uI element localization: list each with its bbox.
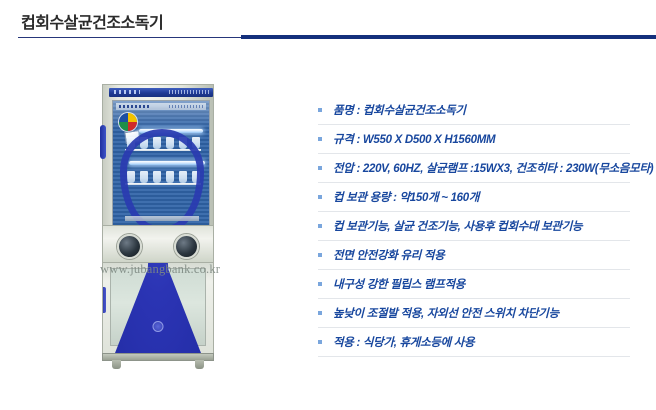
- door-bottom-trim: [125, 216, 199, 221]
- spec-text: 품명 : 컵회수살균건조소독기: [333, 102, 466, 118]
- page-header: 컵회수살균건조소독기: [0, 0, 656, 46]
- square-bullet-icon: [318, 253, 322, 257]
- square-bullet-icon: [318, 137, 322, 141]
- list-item: 품명 : 컵회수살균건조소독기: [318, 96, 630, 125]
- list-item: 전면 안전강화 유리 적용: [318, 241, 630, 270]
- list-item: 컵 보관 용량 : 약150개 ~ 160개: [318, 183, 630, 212]
- square-bullet-icon: [318, 224, 322, 228]
- blue-arch-frame: [120, 129, 204, 228]
- square-bullet-icon: [318, 195, 322, 199]
- upper-cabinet: [102, 84, 214, 236]
- spec-text: 컵 보관 용량 : 약150개 ~ 160개: [333, 189, 479, 205]
- product-image: www.jubangbank.co.kr: [100, 84, 216, 362]
- square-bullet-icon: [318, 108, 322, 112]
- spec-text: 규격 : W550 X D500 X H1560MM: [333, 131, 495, 147]
- list-item: 규격 : W550 X D500 X H1560MM: [318, 125, 630, 154]
- image-watermark: www.jubangbank.co.kr: [100, 262, 330, 277]
- list-item: 컵 보관기능, 살균 건조기능, 사용후 컵회수대 보관기능: [318, 212, 630, 241]
- list-item: 전압 : 220V, 60HZ, 살균램프 :15WX3, 건조히타 : 230…: [318, 154, 630, 183]
- square-bullet-icon: [318, 311, 322, 315]
- color-wheel-sticker-icon: [119, 113, 137, 131]
- list-item: 적용 : 식당가, 휴게소등에 사용: [318, 328, 630, 357]
- brand-badge-icon: [153, 321, 164, 332]
- interior-label-left: [119, 105, 149, 108]
- spec-text: 높낮이 조절발 적용, 자외선 안전 스위치 차단기능: [333, 305, 559, 321]
- header-divider-thick: [241, 35, 656, 39]
- glass-door-interior: [112, 100, 210, 228]
- upper-door-handle: [100, 125, 106, 159]
- square-bullet-icon: [318, 282, 322, 286]
- list-item: 내구성 강한 필립스 램프적용: [318, 270, 630, 299]
- sterilizer-unit-illustration: [100, 84, 216, 362]
- banner-right-text-bar: [169, 90, 209, 94]
- spec-text: 컵 보관기능, 살균 건조기능, 사용후 컵회수대 보관기능: [333, 218, 582, 234]
- interior-label-strip: [116, 103, 206, 110]
- control-dial-right: [174, 234, 199, 259]
- list-item: 높낮이 조절발 적용, 자외선 안전 스위치 차단기능: [318, 299, 630, 328]
- banner-left-text-bar: [114, 90, 140, 94]
- spec-text: 내구성 강한 필립스 램프적용: [333, 276, 465, 292]
- lower-door-handle: [102, 287, 106, 313]
- specification-list: 품명 : 컵회수살균건조소독기 규격 : W550 X D500 X H1560…: [318, 96, 630, 357]
- control-panel-section: [102, 225, 214, 263]
- header-divider-thin: [18, 37, 242, 38]
- square-bullet-icon: [318, 166, 322, 170]
- control-dial-left: [117, 234, 142, 259]
- interior-label-right: [169, 105, 203, 108]
- spec-text: 전면 안전강화 유리 적용: [333, 247, 444, 263]
- page-title: 컵회수살균건조소독기: [21, 9, 163, 33]
- square-bullet-icon: [318, 340, 322, 344]
- adjustable-foot-left: [112, 360, 121, 369]
- spec-text: 적용 : 식당가, 휴게소등에 사용: [333, 334, 474, 350]
- top-blue-banner: [109, 88, 213, 97]
- adjustable-foot-right: [195, 360, 204, 369]
- spec-text: 전압 : 220V, 60HZ, 살균램프 :15WX3, 건조히타 : 230…: [333, 160, 653, 176]
